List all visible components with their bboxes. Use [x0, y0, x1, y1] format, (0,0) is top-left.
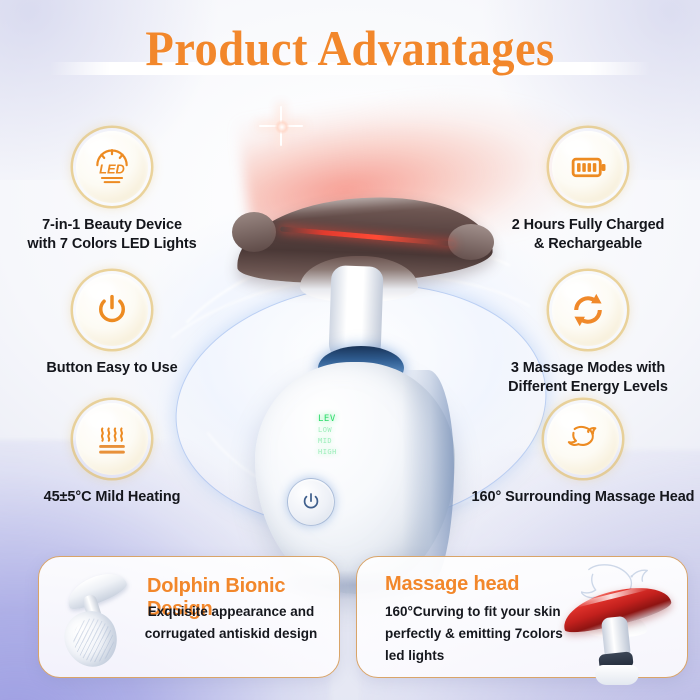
massage-head-illustration	[551, 563, 681, 683]
power-icon	[300, 491, 322, 513]
sparkle-core-icon	[275, 120, 289, 134]
refresh-glyph	[567, 289, 609, 331]
heat-glyph	[91, 418, 133, 460]
massage-head-tip-left	[232, 212, 276, 252]
led-display-line-2: LOW	[318, 425, 378, 436]
feature-label-line1: Button Easy to Use	[0, 359, 237, 378]
feature-battery: 2 Hours Fully Charged & Rechargeable	[463, 128, 700, 254]
feature-label: 7-in-1 Beauty Device with 7 Colors LED L…	[0, 216, 237, 254]
battery-icon	[549, 128, 627, 206]
feature-label-line2: with 7 Colors LED Lights	[0, 235, 237, 254]
mini-device-illustration	[57, 571, 135, 667]
feature-massage-modes: 3 Massage Modes with Different Energy Le…	[463, 271, 700, 397]
product-advantages-infographic: Product Advantages LEV LOW MID HIGH	[0, 0, 700, 700]
feature-led-lights: LED 7-in-1 Beauty Device with 7 Colors L…	[0, 128, 237, 254]
dolphin-glyph	[563, 419, 603, 459]
feature-label-line1: 3 Massage Modes with	[463, 359, 700, 378]
power-button-icon	[73, 271, 151, 349]
led-sun-glyph: LED	[90, 145, 134, 189]
card-body-line2: corrugated antiskid design	[131, 623, 331, 645]
card-body-text: Exquisite appearance and corrugated anti…	[131, 601, 331, 645]
dolphin-icon	[544, 400, 622, 478]
refresh-cycle-icon	[549, 271, 627, 349]
feature-label-line1: 2 Hours Fully Charged	[463, 216, 700, 235]
feature-label-line1: 7-in-1 Beauty Device	[0, 216, 237, 235]
card-massage-head[interactable]: Massage head 160°Curving to fit your ski…	[356, 556, 688, 678]
feature-label: 3 Massage Modes with Different Energy Le…	[463, 359, 700, 397]
card-title: Massage head	[385, 573, 519, 596]
led-display-line-1: LEV	[318, 414, 378, 425]
led-sun-icon: LED	[73, 128, 151, 206]
mini-device-body	[58, 604, 125, 673]
led-level-display: LEV LOW MID HIGH	[318, 414, 378, 458]
power-glyph	[92, 290, 132, 330]
feature-label: 45±5°C Mild Heating	[0, 488, 237, 507]
card-body-line1: Exquisite appearance and	[131, 601, 331, 623]
feature-label-line1: 160° Surrounding Massage Head	[438, 488, 700, 507]
led-display-line-4: HIGH	[318, 447, 378, 458]
feature-label-line2: & Rechargeable	[463, 235, 700, 254]
battery-glyph	[567, 146, 609, 188]
feature-easy-button: Button Easy to Use	[0, 271, 237, 378]
heat-waves-icon	[73, 400, 151, 478]
device-power-button[interactable]	[287, 478, 335, 526]
feature-label-line2: Different Energy Levels	[463, 378, 700, 397]
feature-surrounding-head: 160° Surrounding Massage Head	[438, 400, 700, 507]
massage-head-base	[595, 665, 639, 685]
feature-mild-heating: 45±5°C Mild Heating	[0, 400, 237, 507]
feature-label: Button Easy to Use	[0, 359, 237, 378]
feature-label: 2 Hours Fully Charged & Rechargeable	[463, 216, 700, 254]
svg-text:LED: LED	[99, 161, 125, 176]
card-dolphin-bionic-design[interactable]: Dolphin Bionic Design Exquisite appearan…	[38, 556, 340, 678]
feature-label: 160° Surrounding Massage Head	[438, 488, 700, 507]
led-display-line-3: MID	[318, 436, 378, 447]
feature-label-line1: 45±5°C Mild Heating	[0, 488, 237, 507]
